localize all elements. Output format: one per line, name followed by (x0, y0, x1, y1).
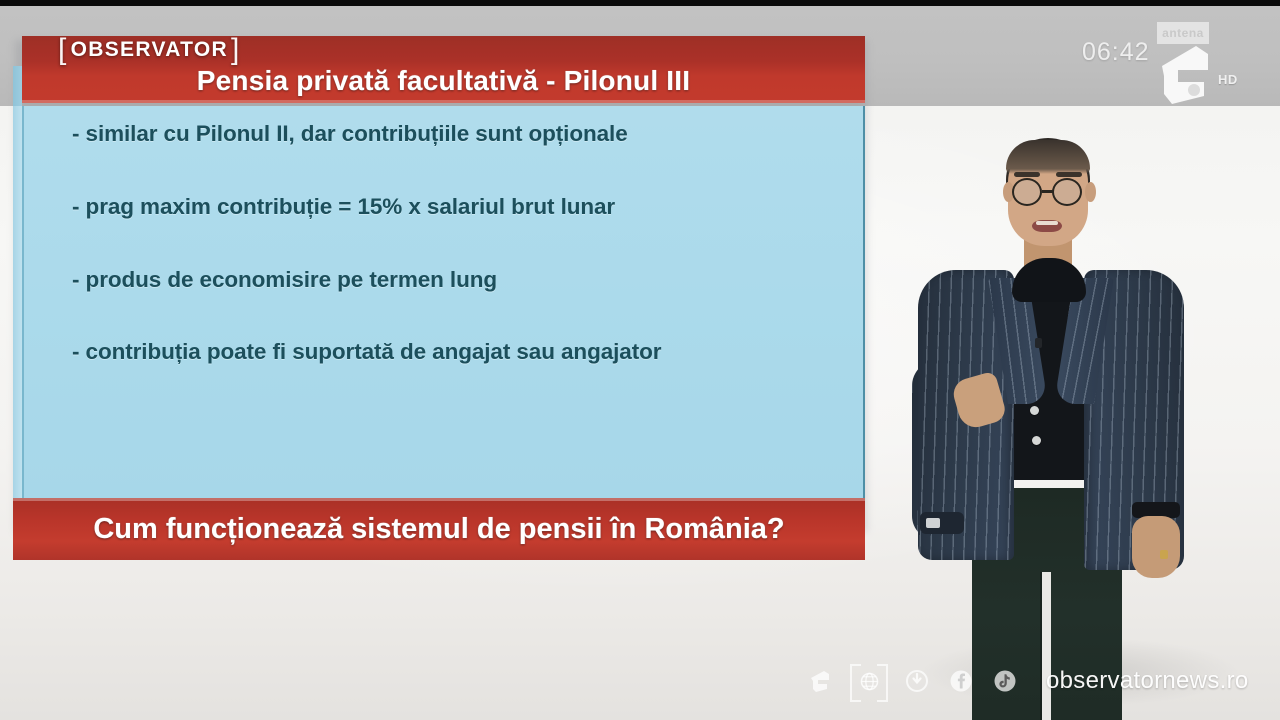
slide-bullet-item: - contribuția poate fi suportată de anga… (72, 340, 852, 365)
hd-badge: HD (1218, 72, 1238, 87)
slide-bullet-item: - produs de economisire pe termen lung (72, 268, 852, 293)
presenter-mouth (1032, 220, 1062, 232)
slide-footer-question: Cum funcționează sistemul de pensii în R… (13, 498, 865, 560)
antena-play-icon[interactable] (902, 666, 932, 696)
globe-icon[interactable] (850, 664, 888, 698)
slide-bullet-item: - prag maxim contribuție = 15% x salariu… (72, 195, 852, 220)
slide-left-edge-top (13, 66, 22, 106)
website-url[interactable]: observatornews.ro (1046, 667, 1249, 695)
eyeglasses-icon (1012, 178, 1042, 206)
channel-logo-bug: antena HD (1152, 22, 1248, 112)
observator-program-bug: [ OBSERVATOR ] (58, 37, 241, 63)
slide-bullet-item: - similar cu Pilonul II, dar contribuții… (72, 122, 852, 147)
presenter-ear-right (1085, 182, 1096, 202)
slide-body-panel: - similar cu Pilonul II, dar contribuții… (22, 106, 865, 498)
bracket-right: ] (231, 37, 241, 63)
presenter-hairline (1006, 140, 1090, 174)
presentation-slide: Pensia privată facultativă - Pilonul III… (13, 36, 865, 530)
ring-icon (1160, 550, 1168, 559)
lapel-microphone-icon (1035, 338, 1042, 348)
presenter-eyebrow-left (1014, 172, 1040, 177)
observator-label: OBSERVATOR (71, 38, 228, 62)
antena1-mark-icon[interactable] (806, 666, 836, 696)
broadcast-screen: Pensia privată facultativă - Pilonul III… (0, 0, 1280, 720)
presenter-jacket-button (1032, 436, 1041, 445)
facebook-icon[interactable] (946, 666, 976, 696)
eyeglasses-bridge (1042, 190, 1054, 193)
slide-footer-bar: Cum funcționează sistemul de pensii în R… (13, 498, 865, 560)
antena-brand-box: antena (1157, 22, 1209, 44)
presenter-cuff-left (920, 512, 964, 534)
presenter-figure (860, 120, 1200, 720)
eyeglasses-icon (1052, 178, 1082, 206)
slide-bullet-list: - similar cu Pilonul II, dar contribuții… (72, 122, 852, 413)
social-media-bar: observatornews.ro (0, 650, 1280, 712)
presenter-hand-right (1132, 516, 1180, 578)
bracket-left: [ (58, 37, 68, 63)
on-screen-clock: 06:42 (1082, 38, 1150, 67)
tiktok-icon[interactable] (990, 666, 1020, 696)
slide-left-edge (13, 106, 22, 498)
presenter-eyebrow-right (1056, 172, 1082, 177)
presenter-jacket-button (1030, 406, 1039, 415)
antena-brand-label: antena (1162, 26, 1204, 40)
antena1-logo-icon (1158, 44, 1216, 106)
